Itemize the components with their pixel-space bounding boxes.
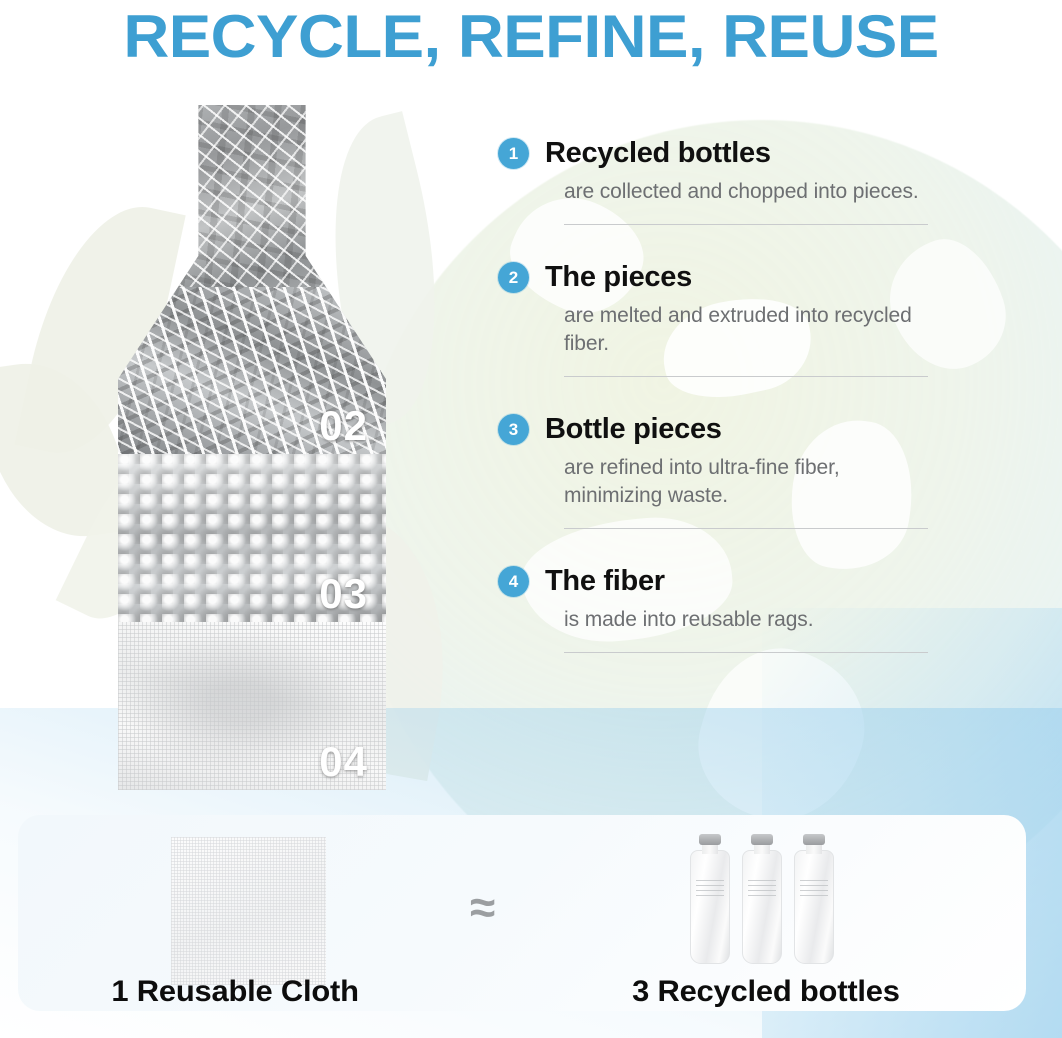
- cloth-label: 1 Reusable Cloth: [111, 975, 358, 1009]
- bottle-band-02: 02: [118, 287, 386, 455]
- step-header: 2 The pieces: [498, 262, 928, 293]
- bottle-band-01: 01: [118, 105, 386, 287]
- step-divider: [564, 652, 928, 653]
- step-divider: [564, 224, 928, 225]
- bottle-silhouette: 01 02 03 04: [118, 105, 386, 790]
- process-step: 2 The pieces are melted and extruded int…: [498, 262, 928, 387]
- step-header: 3 Bottle pieces: [498, 414, 928, 445]
- bottle-cap: [751, 834, 773, 845]
- bottle-grip-rings: [800, 880, 828, 896]
- bottle-band-03: 03: [118, 454, 386, 622]
- bottle-grip-rings: [748, 880, 776, 896]
- step-description: are collected and chopped into pieces.: [564, 178, 928, 206]
- bottle-diagram: 01 02 03 04: [118, 105, 386, 790]
- bottle-body: [742, 850, 782, 964]
- leaf-watermark: [0, 352, 132, 548]
- process-steps-list: 1 Recycled bottles are collected and cho…: [498, 138, 928, 663]
- step-divider: [564, 376, 928, 377]
- step-number-badge: 2: [498, 262, 529, 293]
- step-description: is made into reusable rags.: [564, 606, 928, 634]
- bottle-grip-rings: [696, 880, 724, 896]
- step-title: Bottle pieces: [545, 414, 722, 444]
- recycled-bottle-icon: [742, 834, 782, 964]
- bottles-label: 3 Recycled bottles: [632, 975, 900, 1009]
- infographic-page: RECYCLE, REFINE, REUSE 01 02 03 04 1: [0, 0, 1062, 1038]
- bottle-band-number: 02: [319, 402, 368, 450]
- recycled-bottles-group: [690, 822, 840, 967]
- bottle-body: [690, 850, 730, 964]
- bottle-body: [794, 850, 834, 964]
- step-title: The fiber: [545, 566, 665, 596]
- bottle-cap: [803, 834, 825, 845]
- step-description: are refined into ultra-fine fiber, minim…: [564, 454, 928, 510]
- recycled-bottle-icon: [690, 834, 730, 964]
- bottle-band-number: 04: [319, 738, 368, 786]
- step-divider: [564, 528, 928, 529]
- recycled-bottle-icon: [794, 834, 834, 964]
- page-title: RECYCLE, REFINE, REUSE: [0, 2, 1062, 71]
- step-number-badge: 4: [498, 566, 529, 597]
- reusable-cloth-swatch: [171, 837, 326, 985]
- step-header: 4 The fiber: [498, 566, 928, 597]
- bottle-cap: [699, 834, 721, 845]
- approximately-equal-icon: ≈: [470, 884, 495, 930]
- bottle-band-number: 01: [319, 235, 368, 283]
- step-number-badge: 1: [498, 138, 529, 169]
- step-description: are melted and extruded into recycled fi…: [564, 302, 928, 358]
- process-step: 1 Recycled bottles are collected and cho…: [498, 138, 928, 235]
- step-header: 1 Recycled bottles: [498, 138, 928, 169]
- step-title: The pieces: [545, 262, 692, 292]
- step-title: Recycled bottles: [545, 138, 771, 168]
- step-number-badge: 3: [498, 414, 529, 445]
- bottle-band-number: 03: [319, 570, 368, 618]
- process-step: 4 The fiber is made into reusable rags.: [498, 566, 928, 663]
- process-step: 3 Bottle pieces are refined into ultra-f…: [498, 414, 928, 539]
- bottle-band-04: 04: [118, 622, 386, 790]
